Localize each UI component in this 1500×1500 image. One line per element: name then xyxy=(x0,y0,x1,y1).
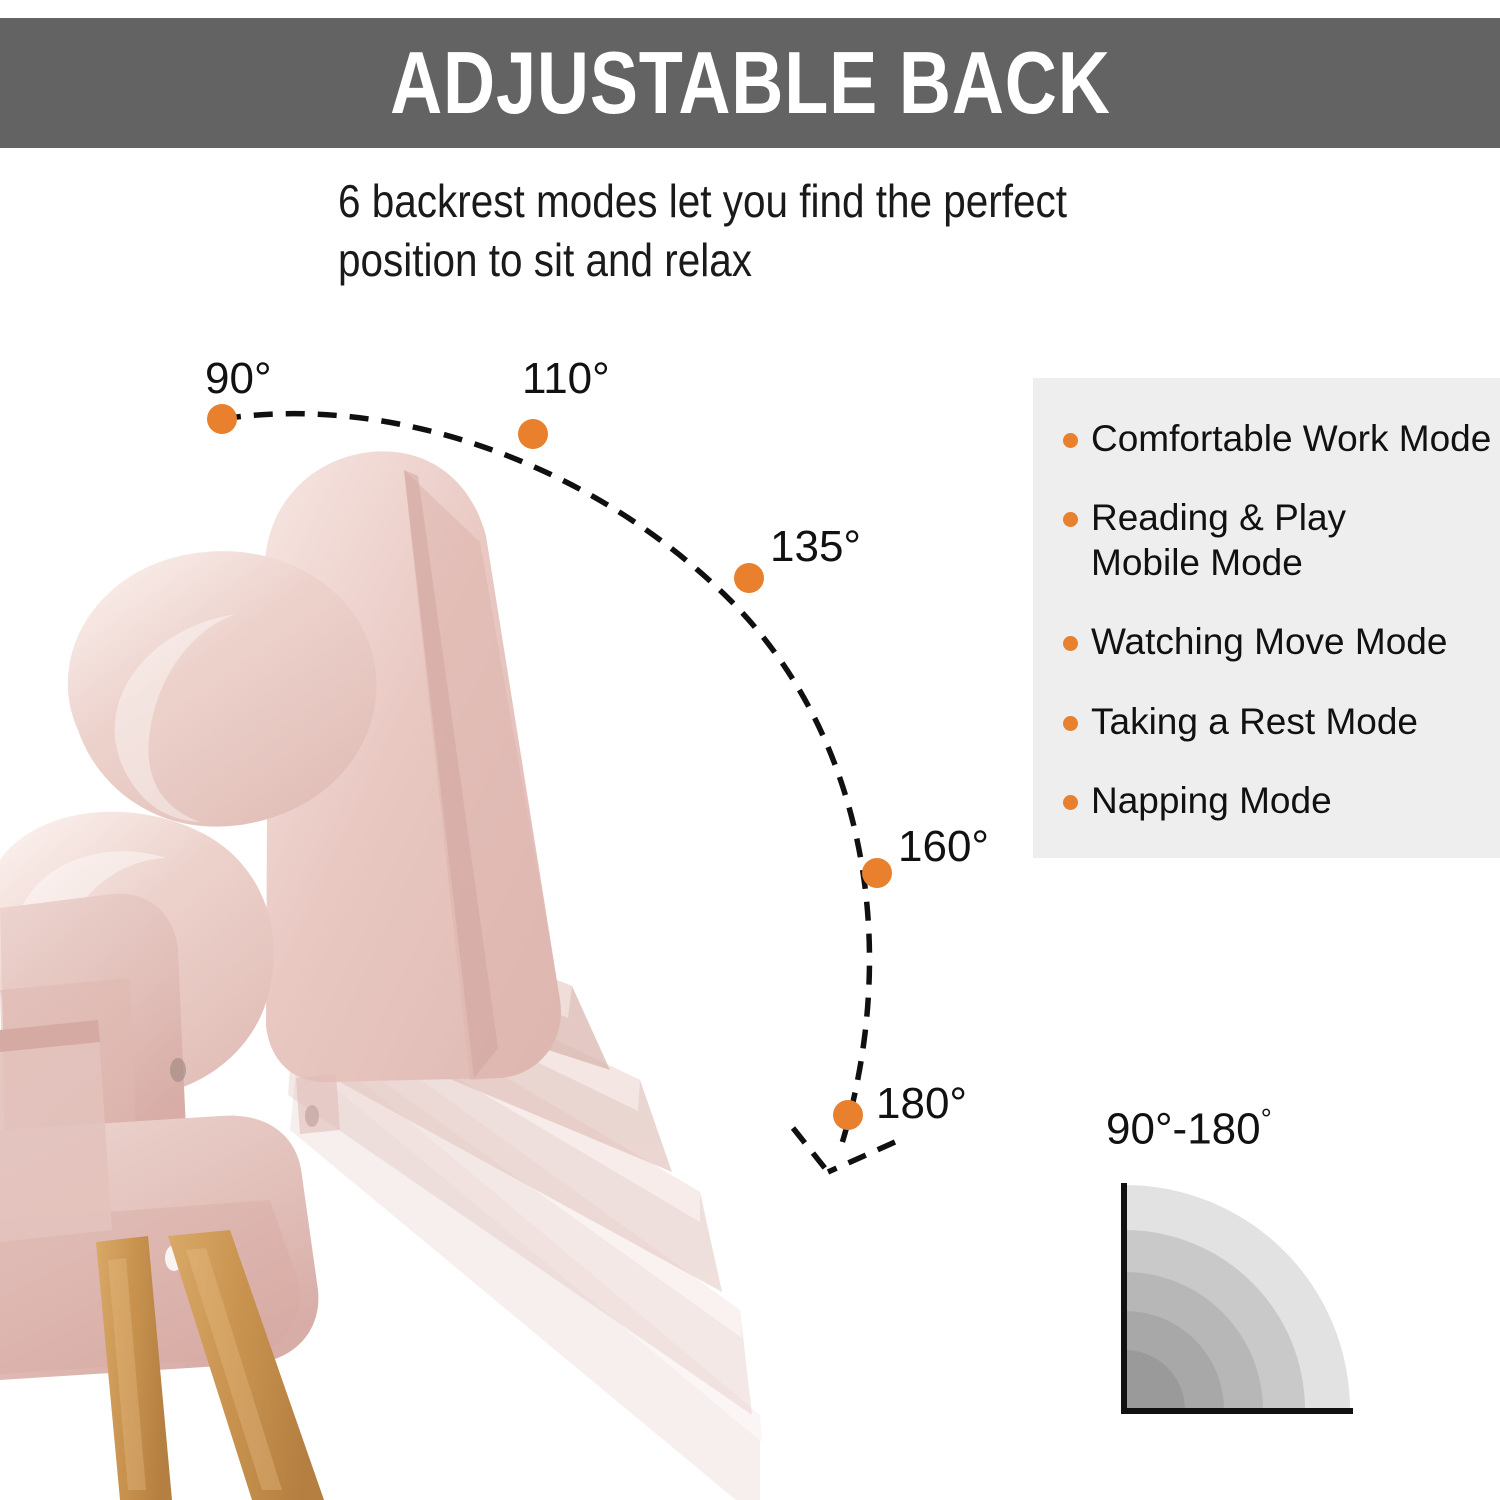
bullet-icon xyxy=(1063,636,1078,651)
angle-label-160: 160° xyxy=(898,825,989,869)
feature-item-taking-a-rest-mode: Taking a Rest Mode xyxy=(1033,699,1500,744)
feature-item-reading-play-mobile-mode: Reading & Play Mobile Mode xyxy=(1033,495,1500,585)
bullet-icon xyxy=(1063,716,1078,731)
angle-range-label-main: 90°-180 xyxy=(1106,1105,1261,1154)
angle-range-diagram: 90°-180° xyxy=(1080,1105,1400,1445)
bullet-icon xyxy=(1063,795,1078,810)
header-banner: ADJUSTABLE BACK xyxy=(0,18,1500,148)
bullet-icon xyxy=(1063,512,1078,527)
angle-range-label-degree: ° xyxy=(1261,1103,1272,1134)
angle-range-label: 90°-180° xyxy=(1106,1105,1272,1152)
angle-dot-160 xyxy=(862,858,892,888)
feature-label: Watching Move Mode xyxy=(1091,619,1447,664)
angle-label-90: 90° xyxy=(205,357,272,401)
feature-label: Napping Mode xyxy=(1091,778,1332,823)
angle-label-135: 135° xyxy=(770,525,861,569)
page-title: ADJUSTABLE BACK xyxy=(390,39,1111,127)
angle-label-180: 180° xyxy=(876,1082,967,1126)
side-pocket xyxy=(0,1020,112,1242)
feature-item-watching-move-mode: Watching Move Mode xyxy=(1033,619,1500,664)
features-panel: Comfortable Work Mode Reading & Play Mob… xyxy=(1033,378,1500,858)
arc-arrowhead-2 xyxy=(828,1142,895,1172)
feature-label: Comfortable Work Mode xyxy=(1091,416,1491,461)
feature-label: Reading & Play Mobile Mode xyxy=(1091,495,1346,585)
chair-illustration xyxy=(0,430,790,1500)
bullet-icon xyxy=(1063,433,1078,448)
angle-dot-180 xyxy=(833,1100,863,1130)
subtitle-text: 6 backrest modes let you find the perfec… xyxy=(338,172,1104,290)
arc-arrowhead xyxy=(793,1128,828,1172)
angle-label-110: 110° xyxy=(522,357,610,401)
feature-label: Taking a Rest Mode xyxy=(1091,699,1418,744)
feature-item-comfortable-work-mode: Comfortable Work Mode xyxy=(1033,416,1500,461)
feature-item-napping-mode: Napping Mode xyxy=(1033,778,1500,823)
